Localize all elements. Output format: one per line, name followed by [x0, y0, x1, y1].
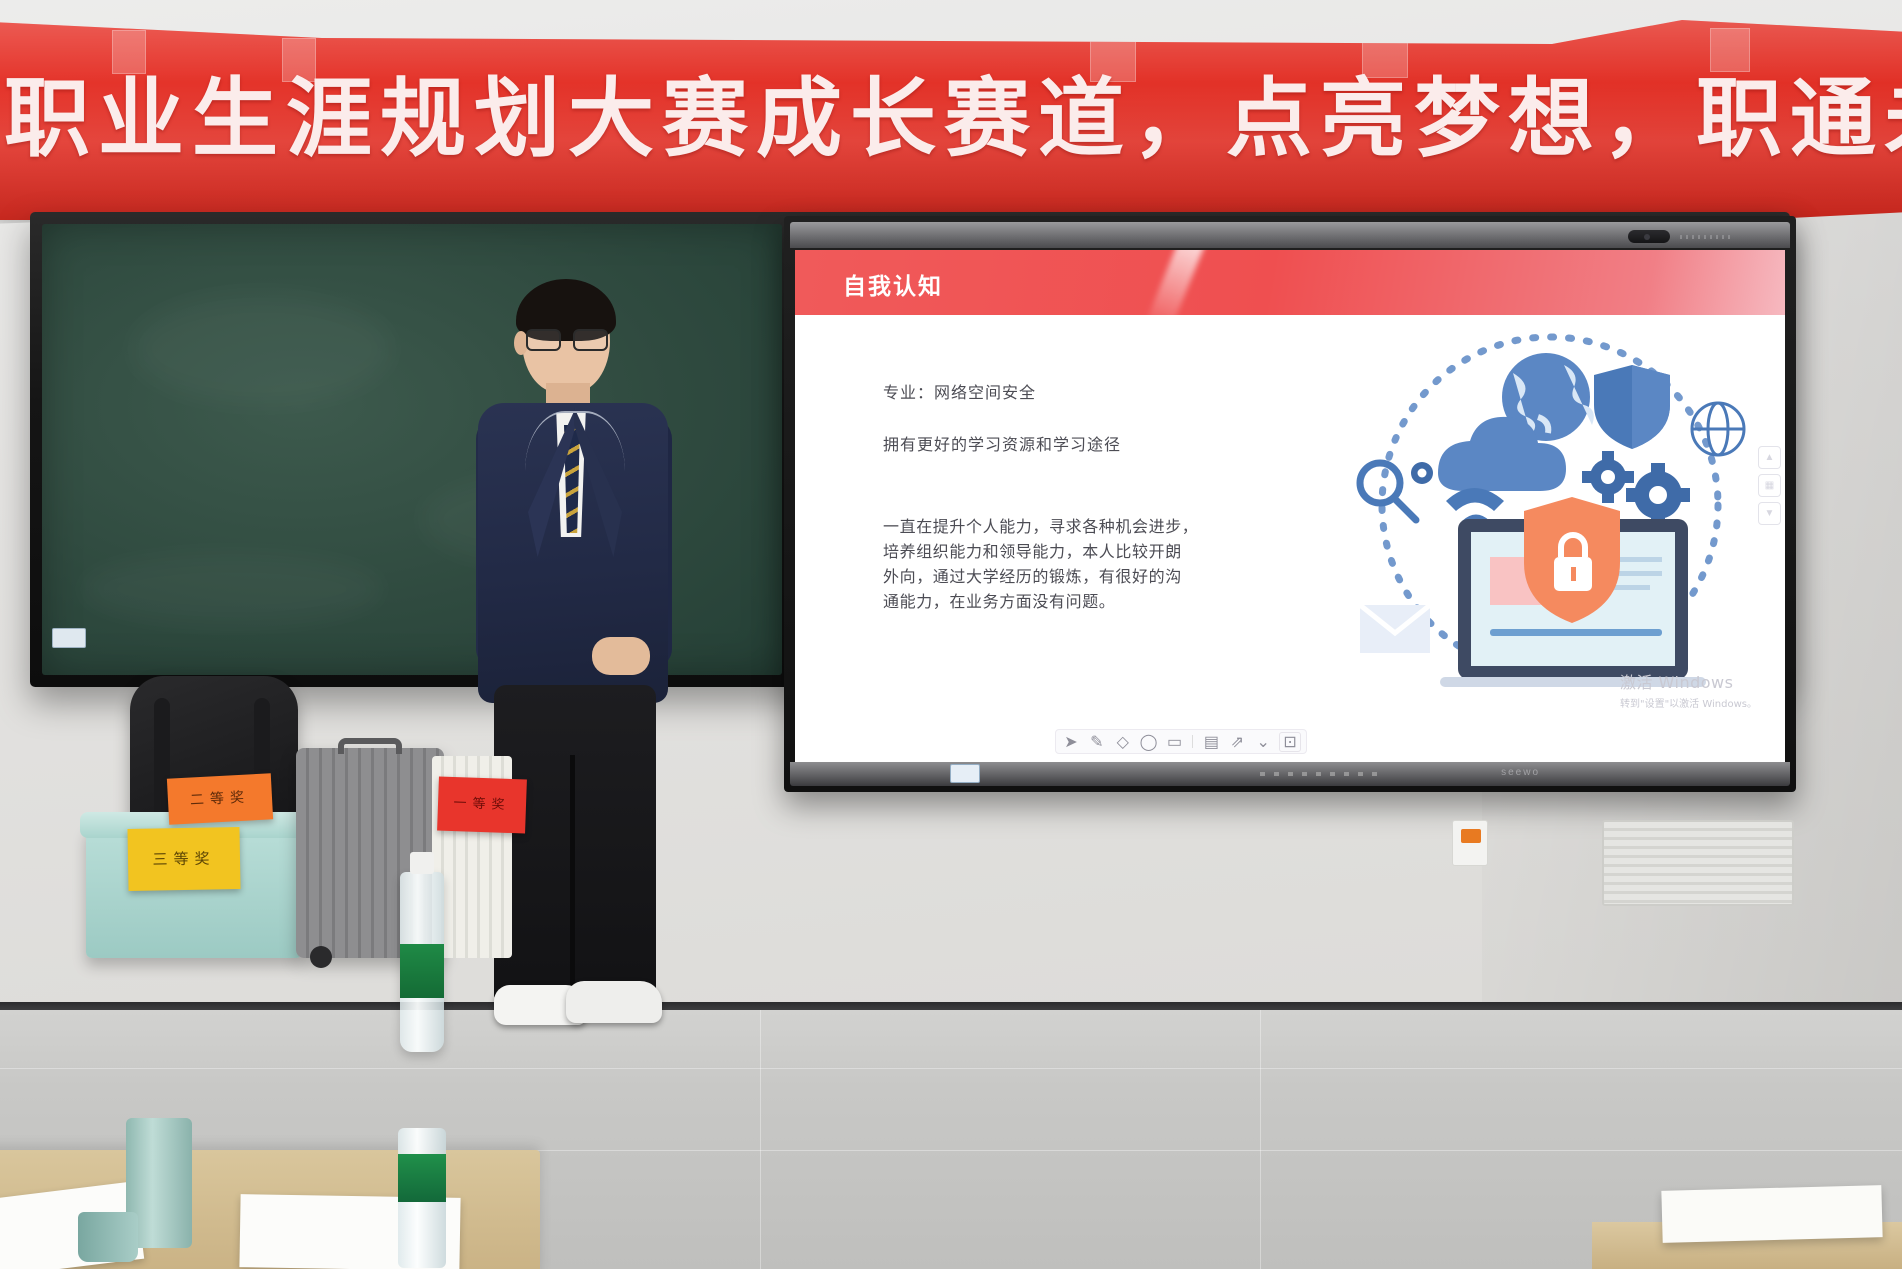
trousers [494, 685, 656, 1003]
presentation-toolbar[interactable]: ➤ ✎ ◇ ◯ ▭ ▤ ⇗ ⌄ ⊡ [1055, 729, 1307, 754]
camera-icon [1628, 230, 1670, 243]
blazer-piping [525, 411, 625, 561]
chevron-down-icon[interactable]: ⌄ [1253, 732, 1273, 752]
document-stack-right [1661, 1185, 1882, 1243]
bottle-cap [410, 852, 434, 874]
wall-switch-panel[interactable] [1452, 820, 1488, 866]
scroll-down-icon[interactable]: ▼ [1758, 502, 1781, 525]
slide-title: 自我认知 [843, 267, 943, 301]
watermark-line-2: 转到"设置"以激活 Windows。 [1620, 695, 1757, 710]
slide-paragraph-line: 一直在提升个人能力，寻求各种机会进步， [883, 514, 1243, 539]
event-banner: 职业生涯规划大赛成长赛道，点亮梦想，职通未来 [0, 12, 1902, 220]
wall-vent [1602, 820, 1794, 906]
windows-activation-watermark: 激活 Windows 转到"设置"以激活 Windows。 [1620, 669, 1757, 710]
prize-card-second: 二等奖 [167, 773, 273, 824]
slide-major-label: 专业：网络空间安全 [883, 380, 1313, 406]
present-icon[interactable]: ⊡ [1279, 732, 1301, 752]
classroom-scene: 职业生涯规划大赛成长赛道，点亮梦想，职通未来 自我认知 专业：网络空间安全 拥有… [0, 0, 1902, 1269]
spotlight-icon[interactable]: ▭ [1165, 732, 1185, 752]
prize-card-third: 三等奖 [127, 827, 240, 891]
screen-glare [1144, 250, 1212, 315]
suitcase-handle [338, 738, 402, 754]
interactive-display[interactable]: 自我认知 专业：网络空间安全 拥有更好的学习资源和学习途径 一直在提升个人能力，… [784, 216, 1796, 792]
display-bottom-bezel: seewo [790, 762, 1790, 786]
slide-paragraph-line: 培养组织能力和领导能力，本人比较开朗 [883, 539, 1243, 564]
slide-paragraph: 一直在提升个人能力，寻求各种机会进步， 培养组织能力和领导能力，本人比较开朗 外… [883, 514, 1243, 614]
bottle-label [398, 1154, 446, 1202]
scroll-up-icon[interactable]: ▲ [1758, 446, 1781, 469]
watermark-line-1: 激活 Windows [1620, 669, 1757, 693]
menu-icon[interactable]: ▦ [1758, 474, 1781, 497]
trouser-seam [570, 755, 575, 995]
bottle-label [400, 944, 444, 998]
pointer-icon[interactable]: ➤ [1061, 732, 1081, 752]
pen-icon[interactable]: ✎ [1087, 732, 1107, 752]
switch-icon[interactable] [1461, 829, 1481, 843]
shoe-right [566, 981, 662, 1023]
slide-body: 专业：网络空间安全 拥有更好的学习资源和学习途径 一直在提升个人能力，寻求各种机… [883, 380, 1313, 614]
zoom-icon[interactable]: ◯ [1139, 732, 1159, 752]
presentation-slide: 自我认知 专业：网络空间安全 拥有更好的学习资源和学习途径 一直在提升个人能力，… [795, 250, 1785, 762]
shield-icon [1594, 365, 1670, 449]
microphone-array [1680, 235, 1730, 239]
water-bottle [400, 872, 444, 1052]
screen-side-controls[interactable]: ▲ ▦ ▼ [1758, 446, 1781, 530]
display-sticker [950, 764, 980, 783]
cup-lid [78, 1212, 138, 1262]
board-sticker [52, 628, 86, 648]
display-screen[interactable]: 自我认知 专业：网络空间安全 拥有更好的学习资源和学习途径 一直在提升个人能力，… [795, 250, 1785, 762]
display-hardware-buttons[interactable] [1260, 772, 1380, 776]
display-brand-logo: seewo [1501, 767, 1540, 778]
slide-paragraph-line: 外向，通过大学经历的锻炼，有很好的沟 [883, 564, 1243, 589]
toolbar-separator [1192, 735, 1193, 748]
envelope-icon [1360, 605, 1430, 653]
glasses [526, 329, 610, 353]
slide-paragraph-line: 通能力，在业务方面没有问题。 [883, 589, 1243, 614]
display-top-bezel [790, 222, 1790, 248]
eraser-icon[interactable]: ◇ [1113, 732, 1133, 752]
slide-resource-line: 拥有更好的学习资源和学习途径 [883, 432, 1313, 458]
clasped-hands [592, 637, 650, 675]
cybersecurity-illustration [1350, 305, 1750, 695]
prize-card-first: 一等奖 [437, 776, 527, 833]
banner-text: 职业生涯规划大赛成长赛道，点亮梦想，职通未来 [4, 64, 1894, 174]
qrcode-icon[interactable]: ▤ [1201, 732, 1221, 752]
share-icon[interactable]: ⇗ [1227, 732, 1247, 752]
water-bottle-table [398, 1128, 446, 1268]
wireframe-globe-icon [1692, 403, 1744, 455]
